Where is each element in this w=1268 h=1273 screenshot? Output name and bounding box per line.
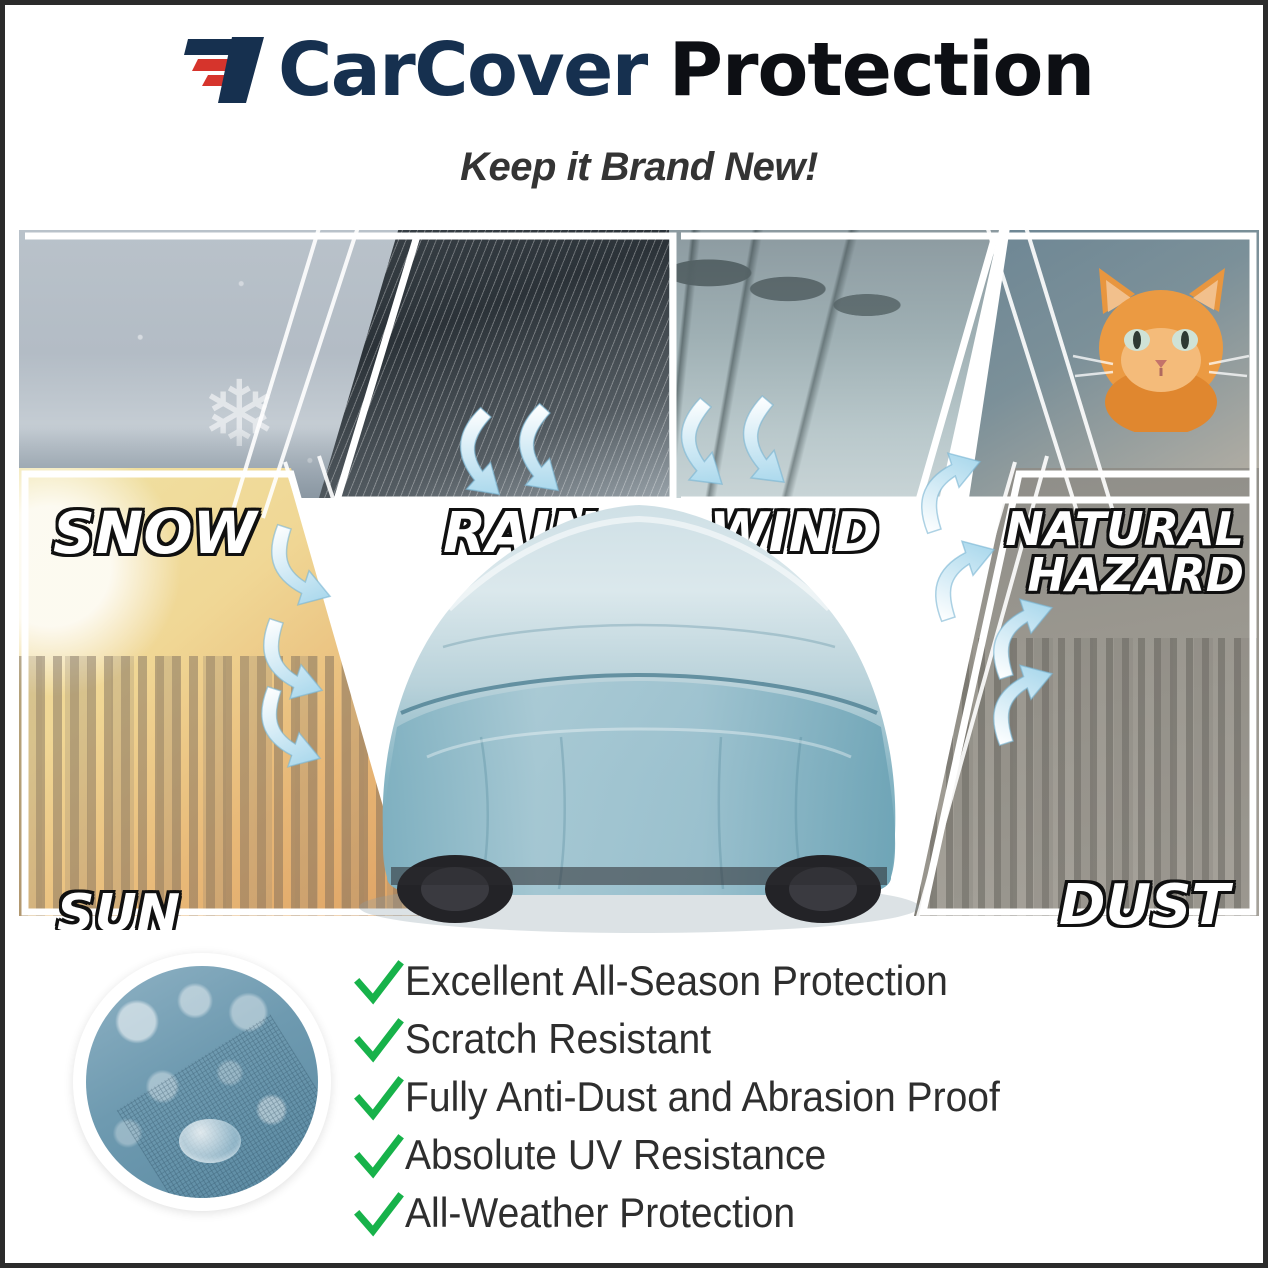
feature-text: Scratch Resistant xyxy=(405,1015,711,1063)
feature-text: All-Weather Protection xyxy=(405,1189,795,1237)
list-item: Absolute UV Resistance xyxy=(353,1131,1183,1189)
tagline: Keep it Brand New! xyxy=(5,145,1268,190)
feature-list: Excellent All-Season Protection Scratch … xyxy=(353,957,1183,1247)
panel-label-snow: SNOW xyxy=(53,504,257,562)
green-check-icon xyxy=(353,1017,405,1065)
ad-card: CarCover Protection Keep it Brand New! ❄ xyxy=(0,0,1268,1268)
panel-label-dust: DUST xyxy=(1059,878,1230,930)
list-item: All-Weather Protection xyxy=(353,1189,1183,1247)
panel-natural-hazard xyxy=(969,230,1259,498)
panel-label-natural-hazard: NATURAL HAZARD xyxy=(974,506,1244,598)
feature-text: Absolute UV Resistance xyxy=(405,1131,826,1179)
cat-icon xyxy=(1069,252,1253,432)
brand-suffix: Protection xyxy=(669,33,1094,107)
brand-lockup: CarCover Protection xyxy=(184,33,1094,107)
water-beading-fabric-closeup-icon xyxy=(73,953,331,1211)
green-check-icon xyxy=(353,1133,405,1181)
list-item: Scratch Resistant xyxy=(353,1015,1183,1073)
feature-text: Fully Anti-Dust and Abrasion Proof xyxy=(405,1073,1000,1121)
header: CarCover Protection xyxy=(5,33,1268,112)
panel-label-sun: SUN xyxy=(57,888,180,930)
list-item: Fully Anti-Dust and Abrasion Proof xyxy=(353,1073,1183,1131)
brand-name: CarCover xyxy=(278,33,647,107)
green-check-icon xyxy=(353,1191,405,1239)
feature-text: Excellent All-Season Protection xyxy=(405,957,948,1005)
list-item: Excellent All-Season Protection xyxy=(353,957,1183,1015)
green-check-icon xyxy=(353,1075,405,1123)
carcover-wing-logo-icon xyxy=(184,33,276,107)
covered-car-icon xyxy=(331,437,947,942)
green-check-icon xyxy=(353,959,405,1007)
